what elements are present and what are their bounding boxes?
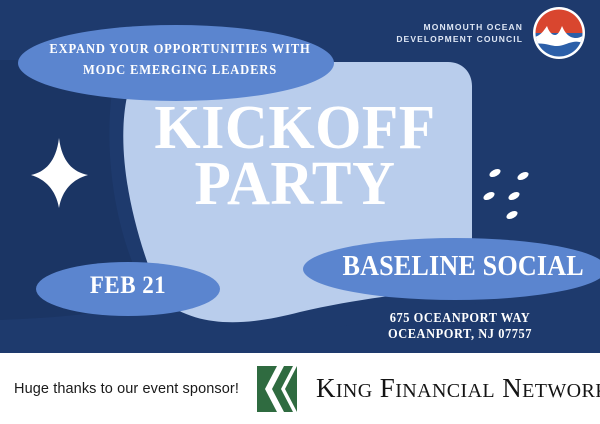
venue-address: 675 OCEANPORT WAY OCEANPORT, NJ 07757: [350, 310, 571, 342]
king-financial-chevron-icon: [257, 366, 305, 412]
king-financial-network-logo: KING FINANCIAL NETWORK: [257, 366, 600, 412]
poster-canvas: MONMOUTH OCEAN DEVELOPMENT COUNCIL EXPAN…: [0, 0, 600, 353]
date-badge-text: FEB 21: [73, 272, 183, 300]
sponsor-thanks-text: Huge thanks to our event sponsor!: [14, 381, 239, 397]
modc-logo: MONMOUTH OCEAN DEVELOPMENT COUNCIL: [396, 6, 586, 60]
page-title: KICKOFF PARTY: [127, 100, 463, 212]
modc-org-name: MONMOUTH OCEAN DEVELOPMENT COUNCIL: [396, 21, 523, 45]
sponsor-bar: Huge thanks to our event sponsor! KING F…: [0, 353, 600, 424]
title-line-2: PARTY: [127, 156, 463, 212]
kfn-etwork: ETWORK: [522, 380, 600, 402]
kfn-k: K: [316, 373, 336, 403]
venue-name: BASELINE SOCIAL: [343, 250, 568, 282]
kfn-ing: ING: [336, 380, 373, 402]
title-line-1: KICKOFF: [127, 100, 463, 156]
kfn-inancial: INANCIAL: [395, 380, 495, 402]
kfn-f: F: [380, 373, 395, 403]
kfn-n: N: [502, 373, 522, 403]
tagline-text: EXPAND YOUR OPPORTUNITIES WITH MODC EMER…: [41, 38, 320, 80]
king-financial-network-name: KING FINANCIAL NETWORK: [316, 373, 600, 404]
event-flyer: MONMOUTH OCEAN DEVELOPMENT COUNCIL EXPAN…: [0, 0, 600, 424]
modc-circle-wave-logo-icon: [532, 6, 586, 60]
